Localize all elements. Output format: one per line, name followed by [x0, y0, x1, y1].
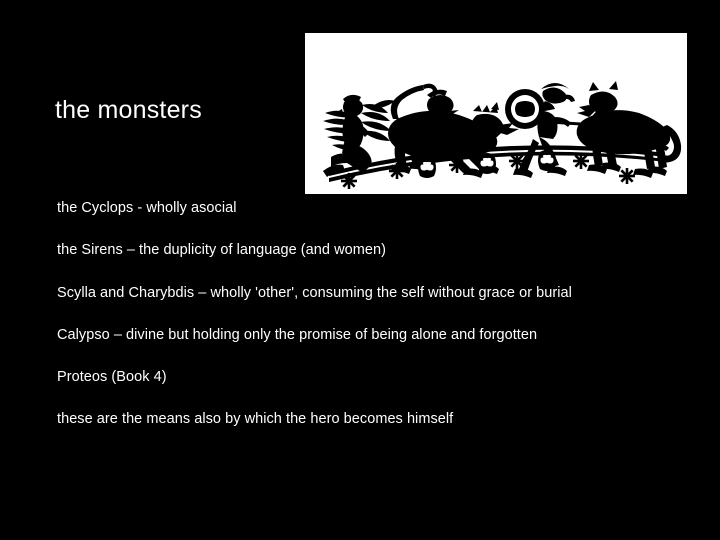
page-title: the monsters [55, 95, 202, 125]
vase-frieze-image [305, 33, 687, 194]
list-item: Scylla and Charybdis – wholly 'other', c… [57, 284, 677, 326]
vase-frieze-illustration [305, 33, 687, 194]
list-item: Calypso – divine but holding only the pr… [57, 326, 677, 368]
body-text-list: the Cyclops - wholly asocial the Sirens … [57, 199, 677, 453]
list-item: these are the means also by which the he… [57, 410, 677, 452]
list-item: the Sirens – the duplicity of language (… [57, 241, 677, 283]
slide-canvas: the monsters the Cyclops - wholly asocia… [0, 0, 720, 540]
list-item: the Cyclops - wholly asocial [57, 199, 677, 241]
list-item: Proteos (Book 4) [57, 368, 677, 410]
